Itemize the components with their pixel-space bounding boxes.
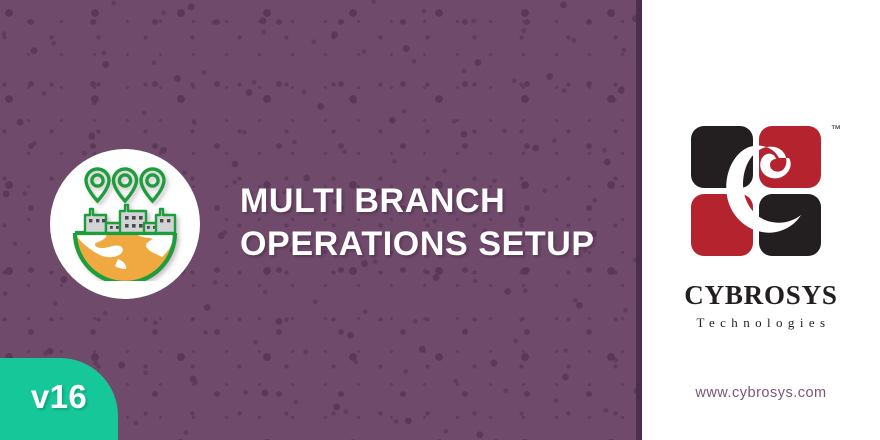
brand-lockup: ™ CYBROSYS Technologies (642, 118, 880, 329)
banner-title: MULTI BRANCH OPERATIONS SETUP (240, 180, 620, 266)
title-line-2: OPERATIONS SETUP (240, 223, 620, 266)
brand-name: CYBROSYS (642, 282, 880, 309)
feature-icon-disc (50, 149, 200, 299)
cybrosys-logo-squares (687, 118, 835, 268)
version-badge: v16 (0, 358, 118, 440)
version-badge-label: v16 (0, 358, 118, 440)
right-white-panel: ™ CYBROSYS Technologies www.cybrosys.com (642, 0, 880, 440)
brand-tagline: Technologies (642, 316, 880, 329)
title-line-1: MULTI BRANCH (240, 180, 620, 223)
trademark-icon: ™ (831, 124, 841, 135)
multi-branch-globe-icon (66, 167, 184, 281)
cybrosys-logo-icon: ™ (687, 118, 835, 268)
promo-banner: MULTI BRANCH OPERATIONS SETUP v16 (0, 0, 880, 440)
website-url: www.cybrosys.com (642, 385, 880, 401)
